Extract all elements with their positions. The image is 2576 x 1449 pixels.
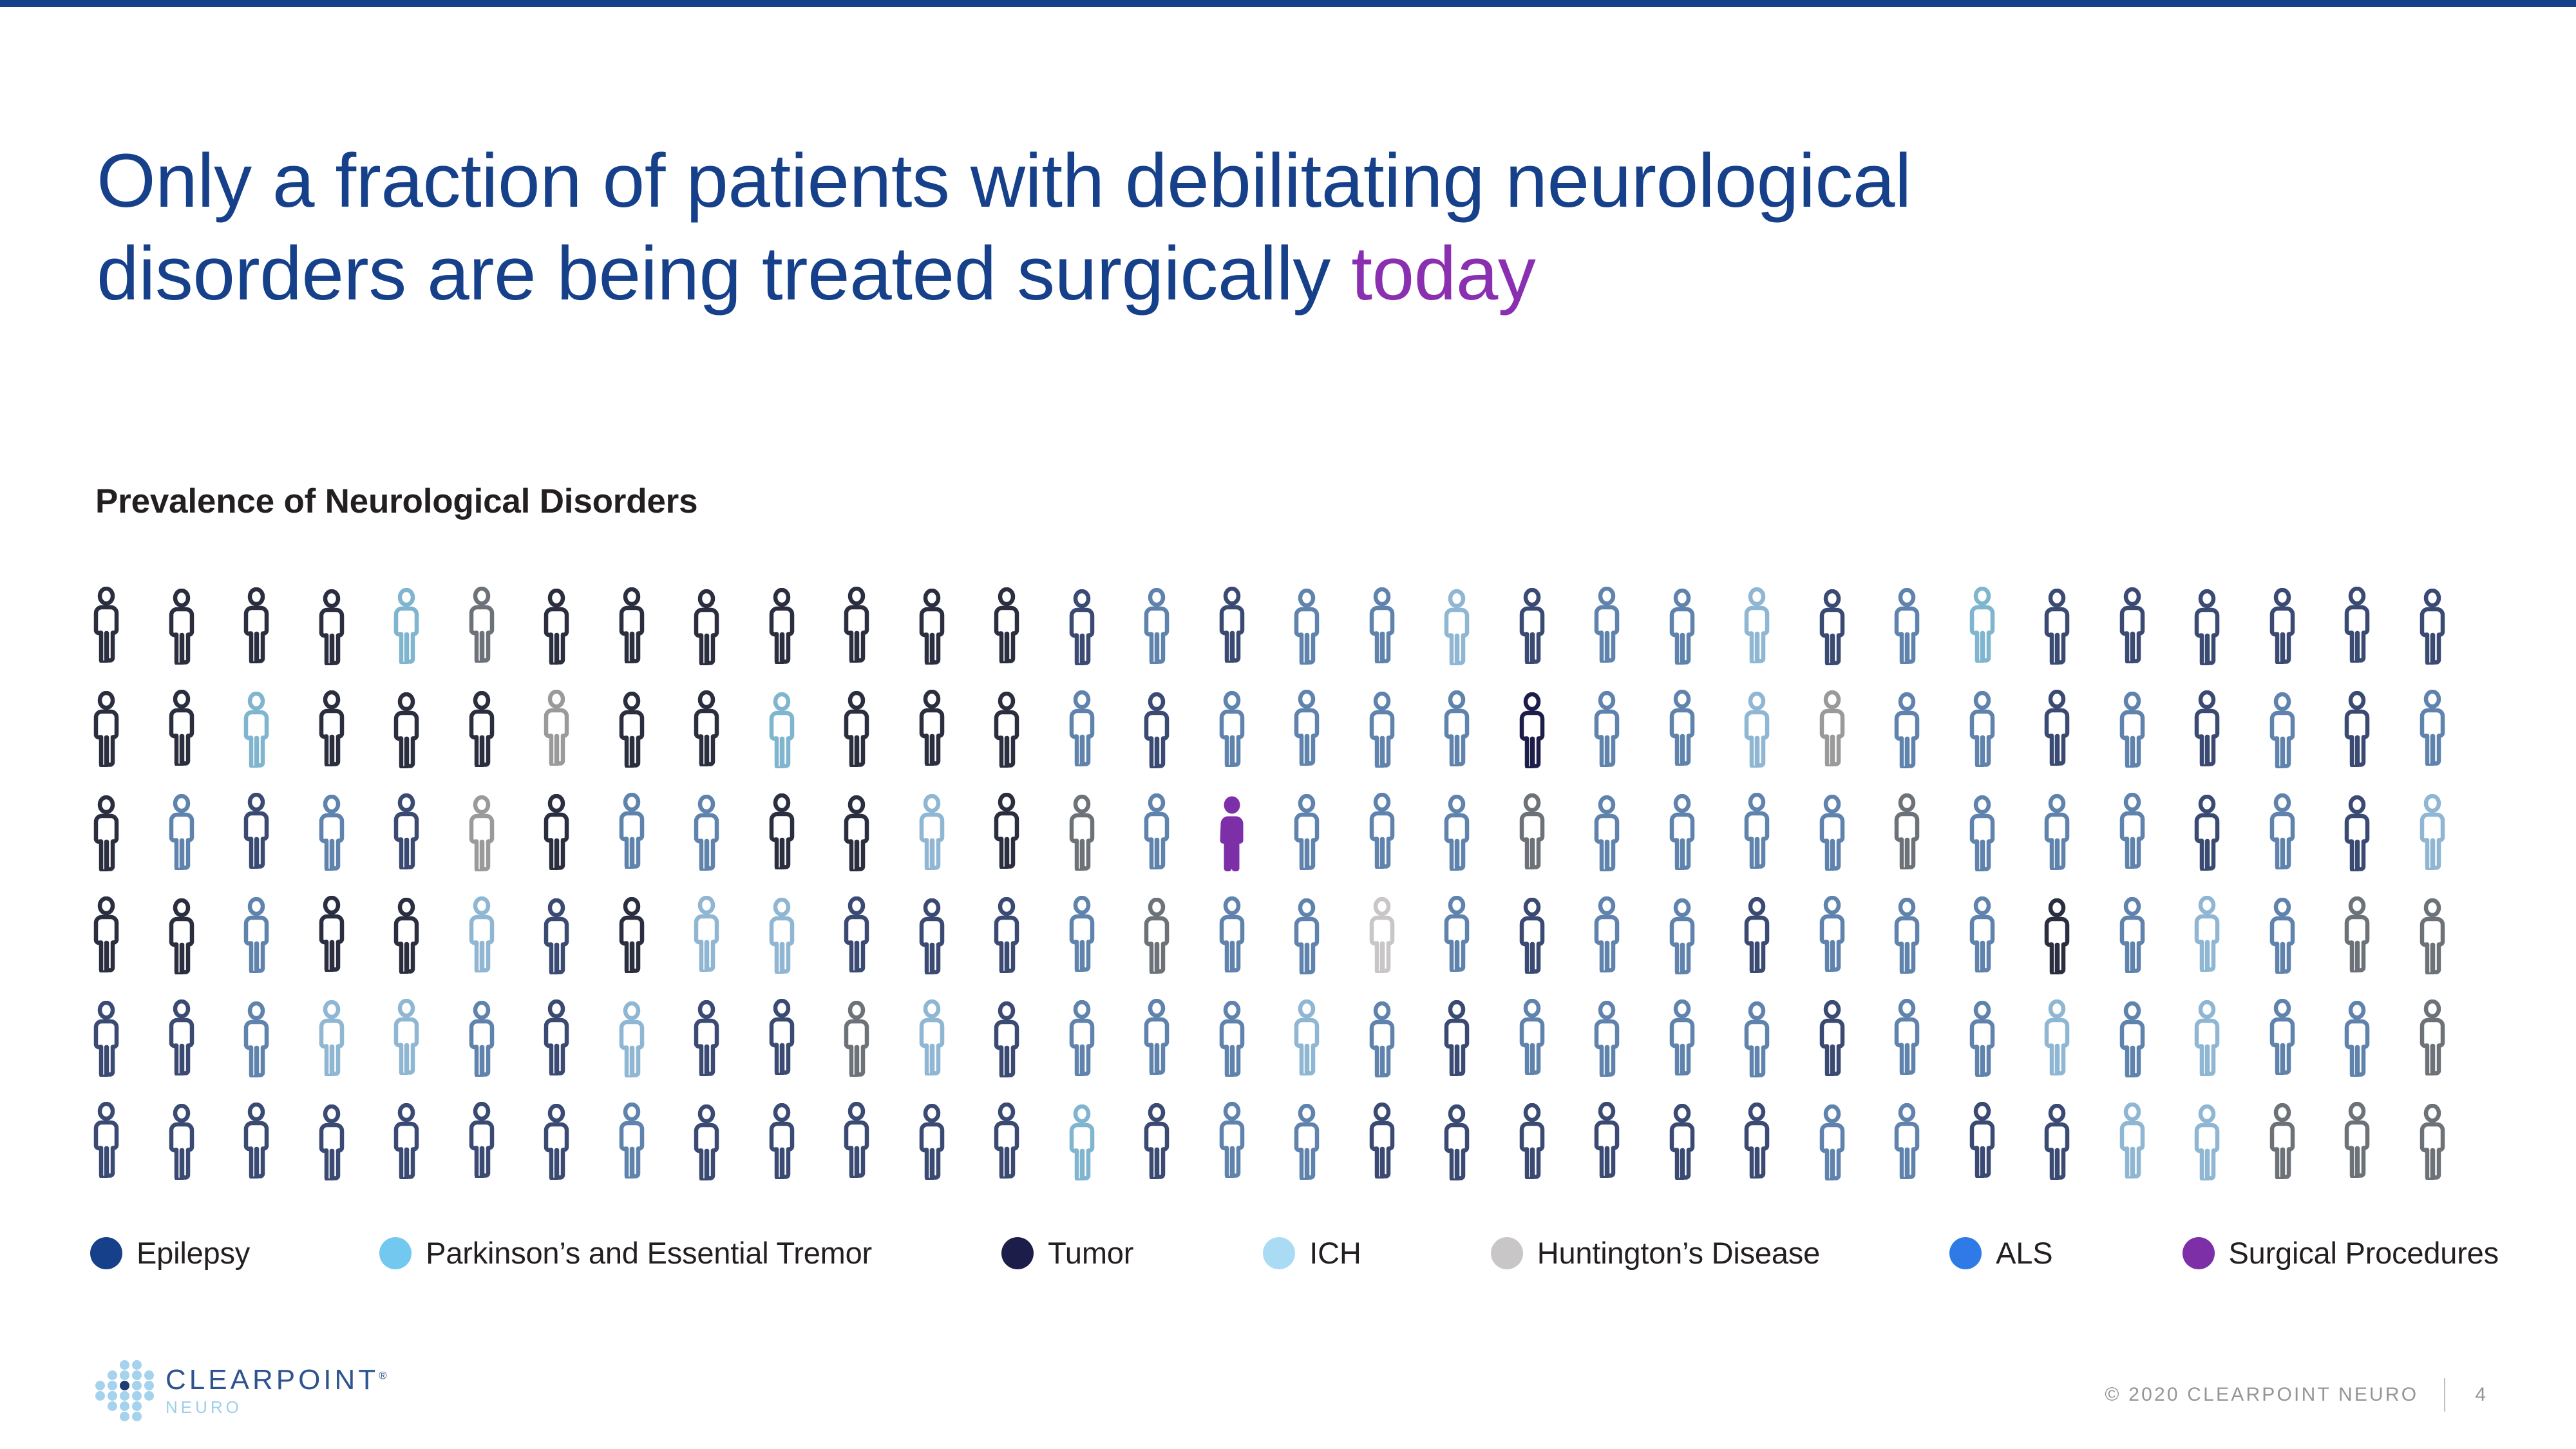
person-icon bbox=[2038, 679, 2113, 782]
person-icon bbox=[2338, 989, 2413, 1092]
person-icon bbox=[1663, 885, 1738, 989]
person-icon bbox=[387, 782, 462, 885]
person-icon bbox=[1513, 1092, 1588, 1195]
person-icon bbox=[1063, 989, 1138, 1092]
person-icon bbox=[687, 885, 762, 989]
person-icon bbox=[687, 1092, 762, 1195]
logo-dot bbox=[132, 1360, 142, 1370]
legend-color-swatch-icon bbox=[90, 1237, 122, 1269]
logo-dot bbox=[144, 1381, 154, 1390]
logo-dot bbox=[108, 1401, 117, 1411]
person-icon bbox=[2188, 782, 2263, 885]
pictogram-row bbox=[87, 1092, 2489, 1195]
legend-item[interactable]: Huntington’s Disease bbox=[1491, 1235, 1820, 1271]
legend-color-swatch-icon bbox=[1491, 1237, 1523, 1269]
person-icon bbox=[1513, 679, 1588, 782]
person-icon bbox=[1738, 576, 1813, 679]
person-icon bbox=[913, 1092, 988, 1195]
legend-color-swatch-icon bbox=[1949, 1237, 1982, 1269]
person-icon bbox=[312, 576, 388, 679]
person-icon bbox=[2338, 1092, 2413, 1195]
person-icon bbox=[2038, 1092, 2113, 1195]
person-icon bbox=[387, 989, 462, 1092]
person-icon bbox=[2113, 1092, 2188, 1195]
person-icon bbox=[913, 576, 988, 679]
person-icon bbox=[1587, 679, 1663, 782]
person-icon bbox=[1587, 782, 1663, 885]
person-icon bbox=[1888, 885, 1963, 989]
person-icon bbox=[1738, 885, 1813, 989]
person-icon bbox=[913, 782, 988, 885]
person-icon bbox=[1063, 1092, 1138, 1195]
legend-item-label: ICH bbox=[1309, 1235, 1361, 1271]
legend-item[interactable]: Tumor bbox=[1001, 1235, 1133, 1271]
person-icon bbox=[1738, 782, 1813, 885]
person-icon bbox=[1663, 576, 1738, 679]
person-icon bbox=[913, 679, 988, 782]
person-icon bbox=[1963, 1092, 2038, 1195]
page-title: Only a fraction of patients with debilit… bbox=[97, 135, 2351, 321]
person-icon bbox=[537, 989, 612, 1092]
logo-dot-matrix-icon bbox=[95, 1360, 156, 1421]
person-icon bbox=[462, 885, 538, 989]
person-icon bbox=[1363, 679, 1438, 782]
person-icon bbox=[2263, 782, 2338, 885]
person-icon bbox=[1813, 576, 1888, 679]
pictogram-row bbox=[87, 989, 2489, 1092]
person-icon bbox=[1587, 1092, 1663, 1195]
person-icon bbox=[462, 576, 538, 679]
person-icon bbox=[2188, 679, 2263, 782]
chart-legend: EpilepsyParkinson’s and Essential Tremor… bbox=[90, 1235, 2499, 1271]
person-icon bbox=[1963, 989, 2038, 1092]
legend-item-label: Epilepsy bbox=[137, 1235, 250, 1271]
legend-item[interactable]: ICH bbox=[1263, 1235, 1361, 1271]
person-icon bbox=[987, 885, 1063, 989]
person-icon bbox=[2263, 576, 2338, 679]
person-icon bbox=[2413, 885, 2488, 989]
person-icon bbox=[1663, 679, 1738, 782]
person-icon bbox=[2188, 989, 2263, 1092]
person-icon bbox=[1663, 782, 1738, 885]
person-icon bbox=[87, 679, 162, 782]
registered-trademark-icon: ® bbox=[379, 1369, 387, 1381]
person-icon bbox=[2113, 679, 2188, 782]
person-icon bbox=[387, 576, 462, 679]
person-icon bbox=[1063, 576, 1138, 679]
person-icon-surgical bbox=[1213, 782, 1288, 885]
person-icon bbox=[162, 576, 238, 679]
person-icon bbox=[837, 885, 913, 989]
person-icon bbox=[1213, 885, 1288, 989]
logo-dot bbox=[132, 1381, 142, 1390]
logo-dot bbox=[120, 1360, 129, 1370]
person-icon bbox=[1213, 576, 1288, 679]
person-icon bbox=[2038, 576, 2113, 679]
person-icon bbox=[387, 679, 462, 782]
person-icon bbox=[837, 1092, 913, 1195]
person-icon bbox=[237, 679, 312, 782]
person-icon bbox=[1137, 576, 1213, 679]
person-icon bbox=[987, 1092, 1063, 1195]
person-icon bbox=[612, 989, 688, 1092]
logo-dot bbox=[120, 1370, 129, 1380]
legend-color-swatch-icon bbox=[379, 1237, 412, 1269]
logo-main-text: CLEARPOINT® bbox=[166, 1364, 387, 1396]
person-icon bbox=[312, 679, 388, 782]
person-icon bbox=[1513, 989, 1588, 1092]
logo-dot bbox=[95, 1391, 105, 1401]
person-icon bbox=[2113, 782, 2188, 885]
person-icon bbox=[837, 989, 913, 1092]
person-icon bbox=[1513, 782, 1588, 885]
logo-dot bbox=[108, 1391, 117, 1401]
logo-dot bbox=[132, 1401, 142, 1411]
person-icon bbox=[1287, 679, 1363, 782]
person-icon bbox=[462, 989, 538, 1092]
person-icon bbox=[1738, 989, 1813, 1092]
person-icon bbox=[537, 1092, 612, 1195]
person-icon bbox=[1063, 782, 1138, 885]
person-icon bbox=[2038, 782, 2113, 885]
person-icon bbox=[1813, 679, 1888, 782]
person-icon bbox=[837, 679, 913, 782]
person-icon bbox=[2188, 1092, 2263, 1195]
person-icon bbox=[1287, 576, 1363, 679]
person-icon bbox=[2413, 782, 2488, 885]
person-icon bbox=[2263, 989, 2338, 1092]
person-icon bbox=[1813, 885, 1888, 989]
person-icon bbox=[2188, 885, 2263, 989]
person-icon bbox=[1363, 989, 1438, 1092]
person-icon bbox=[537, 679, 612, 782]
person-icon bbox=[837, 576, 913, 679]
person-icon bbox=[687, 679, 762, 782]
person-icon bbox=[762, 679, 838, 782]
logo-dot bbox=[144, 1370, 154, 1380]
logo-dot bbox=[144, 1391, 154, 1401]
footer-meta: © 2020 CLEARPOINT NEURO 4 bbox=[2105, 1378, 2486, 1412]
person-icon bbox=[1963, 885, 2038, 989]
person-icon bbox=[537, 885, 612, 989]
person-icon bbox=[1813, 1092, 1888, 1195]
person-icon bbox=[1137, 782, 1213, 885]
person-icon bbox=[2113, 576, 2188, 679]
person-icon bbox=[387, 885, 462, 989]
person-icon bbox=[1363, 576, 1438, 679]
person-icon bbox=[87, 1092, 162, 1195]
person-icon bbox=[162, 782, 238, 885]
person-icon bbox=[612, 782, 688, 885]
person-icon bbox=[1137, 1092, 1213, 1195]
person-icon bbox=[87, 885, 162, 989]
person-icon bbox=[2038, 885, 2113, 989]
person-icon bbox=[1137, 989, 1213, 1092]
person-icon bbox=[687, 576, 762, 679]
person-icon bbox=[987, 679, 1063, 782]
person-icon bbox=[1513, 576, 1588, 679]
person-icon bbox=[612, 885, 688, 989]
person-icon bbox=[1287, 885, 1363, 989]
person-icon bbox=[312, 885, 388, 989]
person-icon bbox=[1888, 679, 1963, 782]
person-icon bbox=[1888, 782, 1963, 885]
person-icon bbox=[1663, 1092, 1738, 1195]
person-icon bbox=[1213, 1092, 1288, 1195]
logo-dot bbox=[132, 1370, 142, 1380]
title-line-2-main: disorders are being treated surgically bbox=[97, 231, 1351, 316]
person-icon bbox=[1738, 679, 1813, 782]
legend-color-swatch-icon bbox=[2183, 1237, 2215, 1269]
person-icon bbox=[462, 782, 538, 885]
person-icon bbox=[162, 885, 238, 989]
pictogram-row bbox=[87, 679, 2489, 782]
person-icon bbox=[987, 989, 1063, 1092]
pictogram-row bbox=[87, 576, 2489, 679]
person-icon bbox=[2338, 782, 2413, 885]
legend-item-label: ALS bbox=[1996, 1235, 2052, 1271]
person-icon bbox=[1137, 679, 1213, 782]
person-icon bbox=[1888, 1092, 1963, 1195]
legend-item[interactable]: Parkinson’s and Essential Tremor bbox=[379, 1235, 872, 1271]
person-icon bbox=[237, 1092, 312, 1195]
person-icon bbox=[762, 989, 838, 1092]
person-icon bbox=[687, 782, 762, 885]
person-icon bbox=[987, 576, 1063, 679]
legend-item[interactable]: Epilepsy bbox=[90, 1235, 250, 1271]
person-icon bbox=[1287, 1092, 1363, 1195]
person-icon bbox=[537, 782, 612, 885]
person-icon bbox=[162, 989, 238, 1092]
person-icon bbox=[1063, 679, 1138, 782]
person-icon bbox=[162, 679, 238, 782]
person-icon bbox=[1063, 885, 1138, 989]
legend-item-label: Parkinson’s and Essential Tremor bbox=[426, 1235, 872, 1271]
person-icon bbox=[237, 782, 312, 885]
person-icon bbox=[1663, 989, 1738, 1092]
person-icon bbox=[1137, 885, 1213, 989]
person-icon bbox=[87, 576, 162, 679]
title-line-1: Only a fraction of patients with debilit… bbox=[97, 135, 2351, 228]
person-icon bbox=[2338, 885, 2413, 989]
person-icon bbox=[1888, 989, 1963, 1092]
pictogram-chart bbox=[87, 576, 2489, 1195]
person-icon bbox=[913, 989, 988, 1092]
person-icon bbox=[312, 1092, 388, 1195]
person-icon bbox=[537, 576, 612, 679]
chart-subtitle: Prevalence of Neurological Disorders bbox=[95, 482, 697, 521]
person-icon bbox=[1437, 885, 1513, 989]
person-icon bbox=[1363, 782, 1438, 885]
person-icon bbox=[1813, 782, 1888, 885]
person-icon bbox=[1587, 989, 1663, 1092]
legend-color-swatch-icon bbox=[1001, 1237, 1034, 1269]
person-icon bbox=[1437, 1092, 1513, 1195]
person-icon bbox=[387, 1092, 462, 1195]
person-icon bbox=[312, 989, 388, 1092]
person-icon bbox=[1963, 679, 2038, 782]
person-icon bbox=[87, 782, 162, 885]
legend-item-label: Tumor bbox=[1048, 1235, 1133, 1271]
person-icon bbox=[462, 1092, 538, 1195]
person-icon bbox=[1437, 989, 1513, 1092]
person-icon bbox=[762, 885, 838, 989]
person-icon bbox=[1587, 576, 1663, 679]
person-icon bbox=[2188, 576, 2263, 679]
person-icon bbox=[2038, 989, 2113, 1092]
person-icon bbox=[2413, 576, 2488, 679]
person-icon bbox=[1888, 576, 1963, 679]
person-icon bbox=[237, 989, 312, 1092]
person-icon bbox=[237, 885, 312, 989]
pictogram-row bbox=[87, 885, 2489, 989]
person-icon bbox=[2413, 989, 2488, 1092]
logo-dot bbox=[95, 1381, 105, 1390]
logo-dot bbox=[132, 1391, 142, 1401]
legend-item[interactable]: ALS bbox=[1949, 1235, 2052, 1271]
person-icon bbox=[312, 782, 388, 885]
person-icon bbox=[1213, 679, 1288, 782]
logo-main-label: CLEARPOINT bbox=[166, 1364, 379, 1396]
logo-dot bbox=[120, 1381, 129, 1390]
person-icon bbox=[762, 576, 838, 679]
person-icon bbox=[237, 576, 312, 679]
title-accent-word: today bbox=[1351, 231, 1535, 316]
person-icon bbox=[2113, 989, 2188, 1092]
person-icon bbox=[1437, 679, 1513, 782]
person-icon bbox=[762, 782, 838, 885]
person-icon bbox=[87, 989, 162, 1092]
person-icon bbox=[2113, 885, 2188, 989]
clearpoint-logo: CLEARPOINT® NEURO bbox=[95, 1360, 387, 1421]
pictogram-row bbox=[87, 782, 2489, 885]
person-icon bbox=[462, 679, 538, 782]
person-icon bbox=[1287, 782, 1363, 885]
logo-dot bbox=[120, 1401, 129, 1411]
copyright-text: © 2020 CLEARPOINT NEURO bbox=[2105, 1384, 2418, 1406]
legend-item[interactable]: Surgical Procedures bbox=[2183, 1235, 2499, 1271]
person-icon bbox=[1587, 885, 1663, 989]
person-icon bbox=[1738, 1092, 1813, 1195]
person-icon bbox=[2263, 1092, 2338, 1195]
person-icon bbox=[2338, 576, 2413, 679]
person-icon bbox=[913, 885, 988, 989]
person-icon bbox=[612, 679, 688, 782]
person-icon bbox=[1963, 782, 2038, 885]
logo-sub-text: NEURO bbox=[166, 1397, 387, 1417]
top-accent-bar bbox=[0, 0, 2576, 7]
person-icon bbox=[162, 1092, 238, 1195]
person-icon bbox=[1213, 989, 1288, 1092]
person-icon bbox=[1363, 885, 1438, 989]
person-icon bbox=[1437, 782, 1513, 885]
person-icon bbox=[2413, 679, 2488, 782]
person-icon bbox=[2338, 679, 2413, 782]
footer-divider bbox=[2444, 1378, 2445, 1412]
legend-item-label: Huntington’s Disease bbox=[1537, 1235, 1820, 1271]
logo-dot bbox=[108, 1370, 117, 1380]
page-number: 4 bbox=[2475, 1384, 2486, 1406]
person-icon bbox=[1813, 989, 1888, 1092]
person-icon bbox=[2263, 679, 2338, 782]
title-line-2: disorders are being treated surgically t… bbox=[97, 228, 2351, 321]
person-icon bbox=[1963, 576, 2038, 679]
logo-dot bbox=[132, 1412, 142, 1421]
person-icon bbox=[612, 1092, 688, 1195]
person-icon bbox=[612, 576, 688, 679]
person-icon bbox=[1287, 989, 1363, 1092]
logo-dot bbox=[120, 1412, 129, 1421]
logo-wordmark: CLEARPOINT® NEURO bbox=[166, 1364, 387, 1417]
legend-color-swatch-icon bbox=[1263, 1237, 1295, 1269]
logo-dot bbox=[120, 1391, 129, 1401]
person-icon bbox=[1363, 1092, 1438, 1195]
person-icon bbox=[837, 782, 913, 885]
person-icon bbox=[2263, 885, 2338, 989]
person-icon bbox=[687, 989, 762, 1092]
person-icon bbox=[1437, 576, 1513, 679]
logo-dot bbox=[108, 1381, 117, 1390]
person-icon bbox=[1513, 885, 1588, 989]
legend-item-label: Surgical Procedures bbox=[2229, 1235, 2499, 1271]
person-icon bbox=[987, 782, 1063, 885]
person-icon bbox=[762, 1092, 838, 1195]
person-icon bbox=[2413, 1092, 2488, 1195]
